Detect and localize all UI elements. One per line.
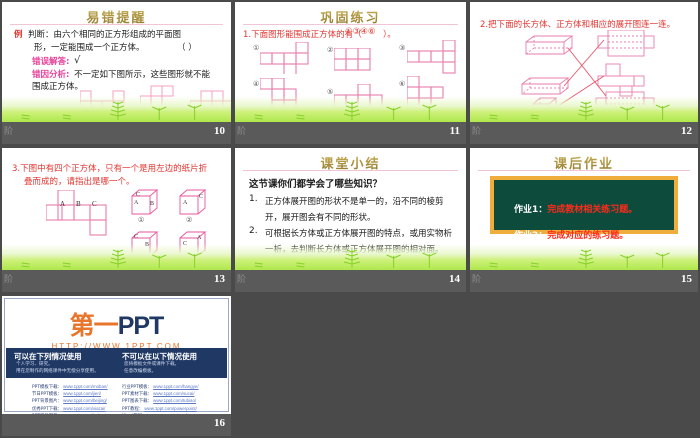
cube-label-2: ② <box>186 216 192 224</box>
slide-16-body: 第一PPT HTTP://WWW.1PPT.COM 可以在下列情况使用 个人学习… <box>2 296 231 414</box>
net-letter-c: C <box>92 200 97 208</box>
left-panel-heading: 可以在下列情况使用 <box>14 351 82 362</box>
link-key: 优秀PPT下载： <box>32 407 62 412</box>
slide-cell-15: 课后作业 作业1：完成教材相关练习题。 作业2：完成对应的练习题。 <box>468 146 700 294</box>
cube1-face-side: B <box>150 201 154 207</box>
net-figure-2 <box>334 48 394 72</box>
page-number-13: 13 <box>214 273 225 285</box>
cube4-face-side: A <box>197 235 201 241</box>
link-key: PPT模板下载： <box>32 385 62 390</box>
page-number-16: 16 <box>214 417 225 429</box>
homework-text-2: 完成对应的练习题。 <box>547 231 628 241</box>
question-answer: ①③④⑥ <box>345 27 375 37</box>
question-text: 2.把下面的长方体、正方体和相应的展开图连一连。 <box>480 18 675 30</box>
slide-15-title: 课后作业 <box>470 148 698 172</box>
page-number-12: 12 <box>681 125 692 137</box>
summary-item-1-num: 1. <box>249 194 258 204</box>
cube1-face-front: A <box>134 200 138 206</box>
question-line-1: 3.下图中有四个正方体，只有一个是用左边的纸片折 <box>12 162 207 174</box>
slide-13-footer: 阶 13 <box>2 270 231 292</box>
slide-13[interactable]: 3.下图中有四个正方体，只有一个是用左边的纸片折 叠而成的，请指出是哪一个。 A… <box>2 148 231 292</box>
grass-decoration <box>470 244 698 270</box>
link-url[interactable]: www.1ppt.com/hangye/ <box>153 384 198 389</box>
link-url[interactable]: www.1ppt.com/sucai/ <box>153 391 194 396</box>
footer-logo-icon: 阶 <box>237 126 245 136</box>
slide-cell-12: 2.把下面的长方体、正方体和相应的展开图连一连。 <box>468 0 700 146</box>
slide-15-body: 课后作业 作业1：完成教材相关练习题。 作业2：完成对应的练习题。 <box>470 148 698 270</box>
slide-cell-13: 3.下图中有四个正方体，只有一个是用左边的纸片折 叠而成的，请指出是哪一个。 A… <box>0 146 233 294</box>
figure-label-4: ④ <box>253 80 259 88</box>
link-url[interactable]: www.1ppt.com/beijing/ <box>63 398 107 403</box>
slide-10-body: 易错提醒 例 判断：由六个相同的正方形组成的平面图 形，一定能围成一个正方体。 … <box>2 2 231 122</box>
footer-logo-icon: 阶 <box>4 274 12 284</box>
question-line-1: 判断：由六个相同的正方形组成的平面图 <box>28 29 181 41</box>
page-number-11: 11 <box>450 125 460 137</box>
link-key: PPT教程： <box>122 407 143 412</box>
grass-decoration <box>235 244 466 270</box>
link-row: PPT背景图片： www.1ppt.com/beijing/ <box>32 398 113 405</box>
figure-label-5: ⑤ <box>327 88 333 96</box>
grass-decoration <box>2 96 231 122</box>
slide-15[interactable]: 课后作业 作业1：完成教材相关练习题。 作业2：完成对应的练习题。 <box>470 148 698 292</box>
slide-cell-11: 巩固练习 1.下面图形能围成正方体的有（ ①③④⑥ ）。 ① ② ③ ④ ⑤ ⑥ <box>233 0 468 146</box>
link-key: PPT背景图片： <box>32 399 62 404</box>
slide-11-footer: 阶 11 <box>235 122 466 144</box>
footer-logo-icon: 阶 <box>4 126 12 136</box>
link-row: PPT图表下载： www.1ppt.com/tubiao/ <box>122 398 202 405</box>
question-answer-blank: （ ） <box>177 42 197 54</box>
slide-cell-14: 课堂小结 这节课你们都学会了哪些知识？ 1. 正方体展开图的形状不是单一的，沿不… <box>233 146 468 294</box>
slide-13-body: 3.下图中有四个正方体，只有一个是用左边的纸片折 叠而成的，请指出是哪一个。 A… <box>2 148 231 270</box>
slide-14-body: 课堂小结 这节课你们都学会了哪些知识？ 1. 正方体展开图的形状不是单一的，沿不… <box>235 148 466 270</box>
page-number-10: 10 <box>214 125 225 137</box>
left-link-list: PPT模板下载： www.1ppt.com/moban/ 节日PPT模板： ww… <box>32 384 113 414</box>
page-number-15: 15 <box>681 273 692 285</box>
link-key: 行业PPT模板： <box>122 385 152 390</box>
title-underline <box>478 170 690 171</box>
right-bullet-1: 您将模板文件或课件下载。 <box>124 362 179 368</box>
title-underline <box>243 170 458 171</box>
question-line-2: 叠而成的，请指出是哪一个。 <box>24 175 135 187</box>
empty-cell-2 <box>468 294 700 438</box>
slide-11-title: 巩固练习 <box>235 2 466 26</box>
homework-text-1: 完成教材相关练习题。 <box>547 205 637 215</box>
net-letter-a: A <box>60 200 65 208</box>
right-bullet-2: 任意改编模板。 <box>124 369 156 375</box>
cube1-face-top: C <box>136 192 140 198</box>
slide-10-title: 易错提醒 <box>2 2 231 26</box>
wrong-answer-label: 错误解答: <box>32 56 69 68</box>
analysis-label: 错因分析: <box>32 69 69 81</box>
question-text: 1.下面图形能围成正方体的有（ <box>243 28 362 40</box>
homework-blackboard: 作业1：完成教材相关练习题。 作业2：完成对应的练习题。 <box>490 176 678 234</box>
homework-label-1: 作业1： <box>514 205 547 215</box>
link-key: PPT图表下载： <box>122 399 152 404</box>
footer-logo-icon: 阶 <box>237 274 245 284</box>
slide-14[interactable]: 课堂小结 这节课你们都学会了哪些知识？ 1. 正方体展开图的形状不是单一的，沿不… <box>235 148 466 292</box>
left-bullet-1: 个人学习、研究。 <box>16 362 53 368</box>
net-figure-3 <box>407 40 466 74</box>
slide-12-footer: 阶 12 <box>470 122 698 144</box>
homework-label-2: 作业2： <box>514 231 547 241</box>
question-tail: ）。 <box>383 28 396 40</box>
link-url[interactable]: www.1ppt.com/powerpoint/ <box>144 406 196 411</box>
example-label: 例 <box>14 29 23 41</box>
slide-cell-16: 第一PPT HTTP://WWW.1PPT.COM 可以在下列情况使用 个人学习… <box>0 294 233 438</box>
slide-16-footer: 16 <box>2 414 231 436</box>
grass-decoration <box>2 244 231 270</box>
figure-label-2: ② <box>327 46 333 54</box>
slide-10[interactable]: 易错提醒 例 判断：由六个相同的正方形组成的平面图 形，一定能围成一个正方体。 … <box>2 2 231 144</box>
right-panel-heading: 不可以在以下情况使用 <box>122 351 197 362</box>
slide-14-title: 课堂小结 <box>235 148 466 172</box>
figure-label-1: ① <box>253 44 259 52</box>
left-bullet-2: 用在您制作的网络课件中无偿分享使用。 <box>16 369 99 375</box>
slide-11[interactable]: 巩固练习 1.下面图形能围成正方体的有（ ①③④⑥ ）。 ① ② ③ ④ ⑤ ⑥ <box>235 2 466 144</box>
net-with-letters <box>46 190 126 240</box>
analysis-line-1: 不一定如下图所示，这些图形就不能 <box>74 69 210 81</box>
slide-12[interactable]: 2.把下面的长方体、正方体和相应的展开图连一连。 <box>470 2 698 144</box>
summary-lead: 这节课你们都学会了哪些知识？ <box>249 176 382 190</box>
link-url[interactable]: www.1ppt.com/moban/ <box>63 384 107 389</box>
grass-decoration <box>235 96 466 122</box>
footer-logo-icon: 阶 <box>472 126 480 136</box>
page-number-14: 14 <box>449 273 460 285</box>
analysis-line-2: 围成正方体。 <box>32 81 83 93</box>
title-underline <box>10 24 223 25</box>
slide-15-footer: 阶 15 <box>470 270 698 292</box>
homework-row-2: 作业2：完成对应的练习题。 <box>514 228 628 241</box>
slide-10-footer: 阶 10 <box>2 122 231 144</box>
link-url[interactable]: www.1ppt.com/tubiao/ <box>153 398 196 403</box>
question-line-2: 形，一定能围成一个正方体。 <box>34 42 145 54</box>
footer-logo-icon: 阶 <box>472 274 480 284</box>
link-url[interactable]: www.1ppt.com/xiazai/ <box>63 406 105 411</box>
figure-label-3: ③ <box>399 44 405 52</box>
summary-item-2-num: 2. <box>249 226 258 236</box>
slide-11-body: 巩固练习 1.下面图形能围成正方体的有（ ①③④⑥ ）。 ① ② ③ ④ ⑤ ⑥ <box>235 2 466 122</box>
link-url[interactable]: www.1ppt.com/jieri/ <box>63 391 101 396</box>
slide-16[interactable]: 第一PPT HTTP://WWW.1PPT.COM 可以在下列情况使用 个人学习… <box>2 296 231 436</box>
slide-12-body: 2.把下面的长方体、正方体和相应的展开图连一连。 <box>470 2 698 122</box>
cube-label-1: ① <box>138 216 144 224</box>
summary-item-1-text: 正方体展开图的形状不是单一的，沿不同的棱剪开，展开图会有不同的形状。 <box>265 194 455 226</box>
link-row: PPT教程： www.1ppt.com/powerpoint/ <box>122 406 202 413</box>
net-figure-1 <box>260 42 320 74</box>
title-underline <box>243 24 458 25</box>
slide-14-footer: 阶 14 <box>235 270 466 292</box>
link-key: 节日PPT模板： <box>32 392 62 397</box>
cube2-face-front: A <box>183 200 187 206</box>
cube2-face-side: C <box>199 194 203 200</box>
link-row: 优秀PPT下载： www.1ppt.com/xiazai/ <box>32 406 113 413</box>
empty-cell-1 <box>233 294 468 438</box>
link-key: PPT素材下载： <box>122 392 152 397</box>
slide-cell-10: 易错提醒 例 判断：由六个相同的正方形组成的平面图 形，一定能围成一个正方体。 … <box>0 0 233 146</box>
grass-decoration <box>470 96 698 122</box>
homework-row-1: 作业1：完成教材相关练习题。 <box>514 202 637 215</box>
wrong-answer-value: √ <box>74 55 80 67</box>
figure-label-6: ⑥ <box>399 80 405 88</box>
net-letter-b: B <box>76 200 81 208</box>
usage-banner: 可以在下列情况使用 个人学习、研究。 用在您制作的网络课件中无偿分享使用。 不可… <box>6 348 227 378</box>
right-link-list: 行业PPT模板： www.1ppt.com/hangye/ PPT素材下载： w… <box>122 384 202 414</box>
slide-thumbnail-grid: 易错提醒 例 判断：由六个相同的正方形组成的平面图 形，一定能围成一个正方体。 … <box>0 0 700 438</box>
cube3-face-top: C <box>134 234 138 240</box>
